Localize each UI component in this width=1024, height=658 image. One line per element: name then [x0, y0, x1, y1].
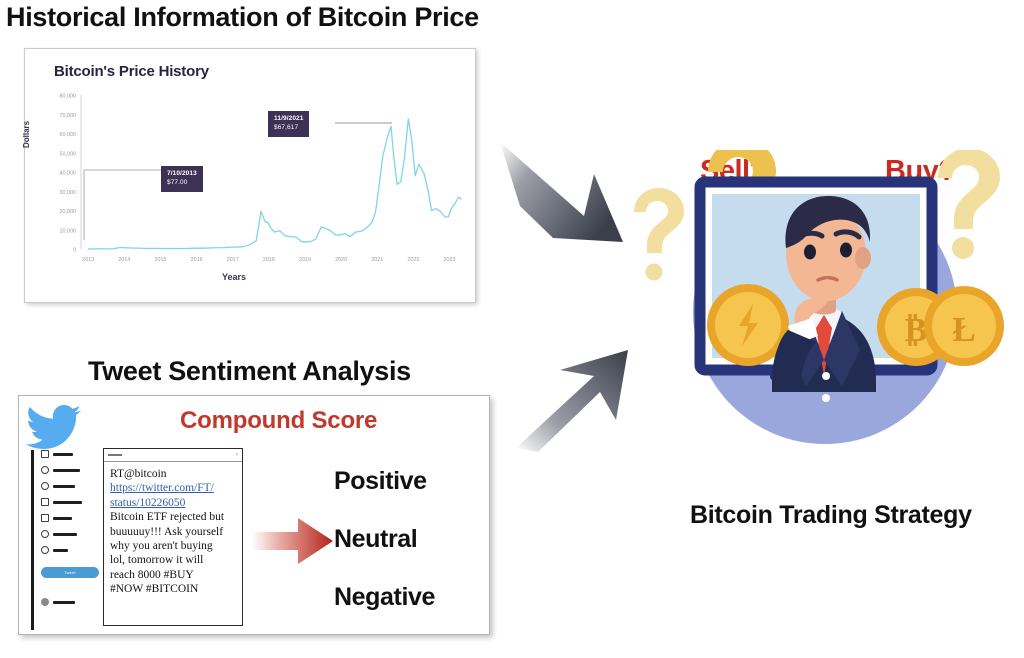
- more-icon: [41, 546, 49, 554]
- tweet-url-line[interactable]: status/10226050: [110, 496, 237, 510]
- sentiment-label-negative: Negative: [334, 583, 435, 612]
- twitter-bird-icon: [26, 404, 82, 450]
- chart-x-tick-label: 2016: [191, 257, 203, 263]
- bitcoin-price-line-chart: 010,00020,00030,00040,00050,00060,00070,…: [24, 48, 476, 303]
- mock-account-row[interactable]: [41, 598, 103, 606]
- mock-nav-item[interactable]: [41, 530, 103, 538]
- annotation-date: 11/9/2021: [274, 114, 303, 123]
- chevron-right-icon: ›: [236, 452, 238, 458]
- tweet-compose-button[interactable]: Tweet: [41, 567, 99, 578]
- chart-y-tick-label: 40,000: [60, 171, 77, 177]
- eye-right: [840, 243, 852, 258]
- tweet-line: #NOW #BITCOIN: [110, 582, 237, 596]
- tweet-card-title-placeholder: [108, 454, 122, 456]
- mock-nav-item[interactable]: [41, 498, 103, 506]
- tweet-line: reach 8000 #BUY: [110, 568, 237, 582]
- thinking-trader-illustration: ₿ Ł: [620, 150, 1020, 490]
- chart-x-tick-group: 2013201420152016201720182019202020212022…: [82, 257, 455, 263]
- mock-nav-label: [53, 453, 73, 456]
- chart-y-tick-label: 70,000: [60, 113, 77, 119]
- tweet-card-header: ›: [104, 449, 242, 462]
- mock-nav-label: [53, 485, 75, 488]
- suit-button: [822, 394, 830, 402]
- chart-y-tick-label: 50,000: [60, 151, 77, 157]
- chart-y-tick-label: 10,000: [60, 228, 77, 234]
- chart-x-tick-label: 2015: [154, 257, 166, 263]
- annotation-value: $67,617: [274, 123, 303, 132]
- tweet-line: RT@bitcoin: [110, 467, 237, 481]
- annotation-value: $77.00: [167, 178, 197, 187]
- flow-arrow-down-right-icon: [498, 138, 638, 256]
- tweet-text-card: › RT@bitcoin https://twitter.com/FT/ sta…: [103, 448, 243, 626]
- tweet-url-line[interactable]: https://twitter.com/FT/: [110, 481, 237, 495]
- bookmark-icon: [41, 498, 49, 506]
- svg-text:Ł: Ł: [952, 310, 975, 349]
- mock-nav-item[interactable]: [41, 514, 103, 522]
- compound-score-heading: Compound Score: [180, 407, 377, 435]
- chart-x-tick-label: 2023: [444, 257, 456, 263]
- chart-x-tick-label: 2022: [407, 257, 419, 263]
- chart-price-line: [88, 119, 461, 249]
- chart-x-tick-label: 2019: [299, 257, 311, 263]
- question-mark-icon: [938, 150, 1000, 259]
- svg-text:₿: ₿: [905, 312, 928, 349]
- chart-annotation-leader-2013: [84, 170, 169, 240]
- mock-nav-label: [53, 549, 68, 552]
- profile-icon: [41, 530, 49, 538]
- chart-x-tick-label: 2017: [227, 257, 239, 263]
- tweet-line: buuuuuy!!! Ask yourself: [110, 525, 237, 539]
- mock-account-name: [53, 601, 75, 604]
- mock-nav-item[interactable]: [41, 546, 103, 554]
- avatar: [41, 598, 49, 606]
- chart-x-tick-label: 2014: [118, 257, 130, 263]
- tweet-button-label: Tweet: [64, 570, 76, 575]
- mock-nav-item[interactable]: [41, 450, 103, 458]
- page-title-historical: Historical Information of Bitcoin Price: [6, 2, 526, 33]
- chart-x-tick-label: 2021: [371, 257, 383, 263]
- tweet-line: Bitcoin ETF rejected but: [110, 510, 237, 524]
- chart-y-tick-label: 0: [73, 248, 76, 254]
- sentiment-label-neutral: Neutral: [334, 525, 417, 554]
- mock-nav-item[interactable]: [41, 466, 103, 474]
- chart-x-tick-label: 2013: [82, 257, 94, 263]
- suit-button: [822, 372, 830, 380]
- red-gradient-arrow-icon: [252, 516, 334, 566]
- chart-y-tick-label: 60,000: [60, 132, 77, 138]
- tweet-line: why you aren't buying: [110, 539, 237, 553]
- mock-nav-item[interactable]: [41, 482, 103, 490]
- coin-litecoin-icon: Ł: [924, 286, 1004, 366]
- mock-nav-label: [53, 501, 82, 504]
- mock-nav-label: [53, 469, 80, 472]
- chart-annotation-2021: 11/9/2021 $67,617: [268, 111, 309, 137]
- page-title-tweet-sentiment: Tweet Sentiment Analysis: [88, 356, 508, 387]
- annotation-date: 7/10/2013: [167, 169, 197, 178]
- eye-left: [804, 245, 816, 260]
- chart-y-tick-label: 30,000: [60, 190, 77, 196]
- caption-bitcoin-trading-strategy: Bitcoin Trading Strategy: [690, 501, 1024, 530]
- mock-nav-label: [53, 517, 72, 520]
- hash-icon: [41, 450, 49, 458]
- chart-y-tick-label: 20,000: [60, 209, 77, 215]
- mock-nav-label: [53, 533, 77, 536]
- tweet-line: lol, tomorrow it will: [110, 553, 237, 567]
- mail-icon: [41, 482, 49, 490]
- chart-y-tick-group: 010,00020,00030,00040,00050,00060,00070,…: [60, 94, 77, 254]
- question-mark-icon: [634, 188, 684, 281]
- chart-annotation-2013: 7/10/2013 $77.00: [161, 166, 203, 192]
- chart-x-tick-label: 2018: [263, 257, 275, 263]
- tweet-body: RT@bitcoin https://twitter.com/FT/ statu…: [104, 462, 242, 596]
- ear: [855, 247, 871, 269]
- sentiment-label-positive: Positive: [334, 467, 427, 496]
- twitter-sidebar-mock: Tweet: [31, 450, 103, 630]
- list-icon: [41, 514, 49, 522]
- chart-x-tick-label: 2020: [335, 257, 347, 263]
- bell-icon: [41, 466, 49, 474]
- chart-y-tick-label: 80,000: [60, 94, 77, 100]
